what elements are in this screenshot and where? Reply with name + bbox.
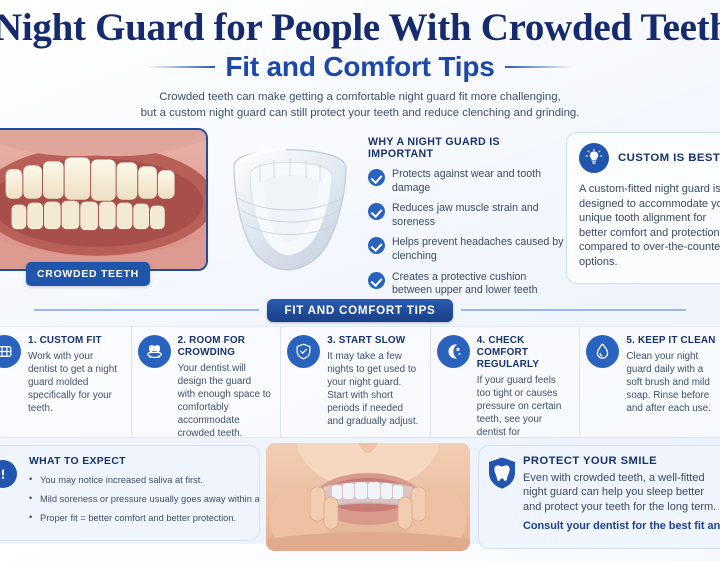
shield-check-icon [287,335,320,368]
exclamation-circle-icon [0,460,17,488]
crowded-teeth-photo [0,128,208,271]
tip-card-text: If your guard feels too tight or causes … [477,374,571,438]
tip-card-title: 4. CHECK COMFORT REGULARLY [477,335,571,371]
why-night-guard-section: WHY A NIGHT GUARD IS IMPORTANT Protects … [368,136,564,305]
custom-is-best-card: CUSTOM IS BEST A custom-fitted night gua… [566,132,720,284]
tip-card-title: 3. START SLOW [327,335,421,347]
tip-card-text: It may take a few nights to get used to … [327,350,421,428]
check-circle-icon [368,203,385,220]
tip-card-1: 1. CUSTOM FIT Work with your dentist to … [0,327,132,437]
what-to-expect-item: Proper fit = better comfort and better p… [29,512,247,524]
tooth-guard-icon [138,335,171,368]
check-circle-icon [368,272,385,289]
custom-is-best-line: better comfort and protection [579,226,720,241]
tip-card-title: 1. CUSTOM FIT [28,335,122,347]
tips-banner-label: FIT AND COMFORT TIPS [267,299,452,322]
what-to-expect-title: WHAT TO EXPECT [29,456,247,467]
intro-line-1: Crowded teeth can make getting a comfort… [0,90,720,106]
lightbulb-icon [579,143,609,173]
top-content-row: CROWDED TEETH WHY A NIGHT GUARD IS IMPOR… [0,128,720,298]
tip-card-title: 2. ROOM FOR CROWDING [178,335,272,359]
tip-card-text: Your dentist will design the guard with … [178,362,272,438]
custom-is-best-body: A custom-fitted night guard is designed … [579,182,720,269]
page-subtitle: Fit and Comfort Tips [225,51,494,83]
check-circle-icon [368,237,385,254]
protect-line: Even with crowded teeth, a well-fitted [523,471,720,485]
protect-your-smile-title: PROTECT YOUR SMILE [523,455,720,467]
protect-your-smile-body: Even with crowded teeth, a well-fitted n… [523,471,720,514]
tip-card-text: Clean your night guard daily with a soft… [626,350,720,415]
custom-is-best-line: A custom-fitted night guard is [579,182,720,197]
intro-paragraph: Crowded teeth can make getting a comfort… [0,90,720,121]
banner-rule-left [34,309,259,311]
woman-inserting-night-guard-photo [266,443,470,551]
custom-is-best-line: unique tooth alignment for [579,211,720,226]
custom-is-best-line: designed to accommodate your [579,197,720,212]
infographic-header: Night Guard for People With Crowded Teet… [0,0,720,121]
what-to-expect-card: WHAT TO EXPECT You may notice increased … [0,445,260,541]
tips-banner-row: FIT AND COMFORT TIPS [0,300,720,320]
page-title: Night Guard for People With Crowded Teet… [0,6,720,50]
clear-night-guard-photo [214,136,366,286]
tip-card-5: 5. KEEP IT CLEAN Clean your night guard … [580,327,720,437]
what-to-expect-item: You may notice increased saliva at first… [29,474,247,486]
protect-line: night guard can help you sleep better [523,485,720,499]
tip-card-text: Work with your dentist to get a night gu… [28,350,122,415]
tip-card-body: 3. START SLOW It may take a few nights t… [327,335,421,437]
water-drop-icon [586,335,619,368]
why-item-label: Reduces jaw muscle strain and soreness [392,202,564,229]
why-item-label: Helps prevent headaches caused by clench… [392,236,564,263]
crowded-teeth-illustration [0,130,206,270]
why-item: Reduces jaw muscle strain and soreness [368,202,564,229]
why-item-label: Creates a protective cushion between upp… [392,271,564,298]
tooth-shield-glyph [487,456,517,490]
tooth-shield-icon [487,456,517,490]
custom-is-best-title: CUSTOM IS BEST [618,152,720,164]
tip-card-2: 2. ROOM FOR CROWDING Your dentist will d… [132,327,282,437]
intro-line-2: but a custom night guard can still prote… [0,106,720,122]
tip-card-title: 5. KEEP IT CLEAN [626,335,720,347]
protect-your-smile-cta: Consult your dentist for the best fit an… [523,520,720,532]
subtitle-rule-right [505,66,575,68]
tip-card-body: 2. ROOM FOR CROWDING Your dentist will d… [178,335,272,437]
tip-card-body: 5. KEEP IT CLEAN Clean your night guard … [626,335,720,437]
tip-card-body: 4. CHECK COMFORT REGULARLY If your guard… [477,335,571,437]
banner-rule-right [461,309,686,311]
custom-is-best-line: compared to over-the-counter [579,240,720,255]
protect-line: and protect your teeth for the long term… [523,500,720,514]
why-item: Helps prevent headaches caused by clench… [368,236,564,263]
subtitle-row: Fit and Comfort Tips [0,51,720,83]
tip-card-3: 3. START SLOW It may take a few nights t… [281,327,431,437]
tip-card-4: 4. CHECK COMFORT REGULARLY If your guard… [431,327,581,437]
tip-card-body: 1. CUSTOM FIT Work with your dentist to … [28,335,122,437]
why-item: Protects against wear and tooth damage [368,168,564,195]
custom-is-best-line: options. [579,255,720,270]
tips-strip: 1. CUSTOM FIT Work with your dentist to … [0,326,720,438]
protect-your-smile-card: PROTECT YOUR SMILE Even with crowded tee… [478,445,720,549]
what-to-expect-item: Mild soreness or pressure usually goes a… [29,493,247,505]
custom-is-best-header: CUSTOM IS BEST [579,143,720,173]
why-item-label: Protects against wear and tooth damage [392,168,564,195]
moon-stars-icon [437,335,470,368]
check-circle-icon [368,169,385,186]
subtitle-rule-left [145,66,215,68]
why-item: Creates a protective cushion between upp… [368,271,564,298]
teeth-braces-icon [0,335,21,368]
why-heading: WHY A NIGHT GUARD IS IMPORTANT [368,136,564,160]
crowded-teeth-badge: CROWDED TEETH [26,262,150,286]
night-guard-fitting-illustration [266,443,470,551]
